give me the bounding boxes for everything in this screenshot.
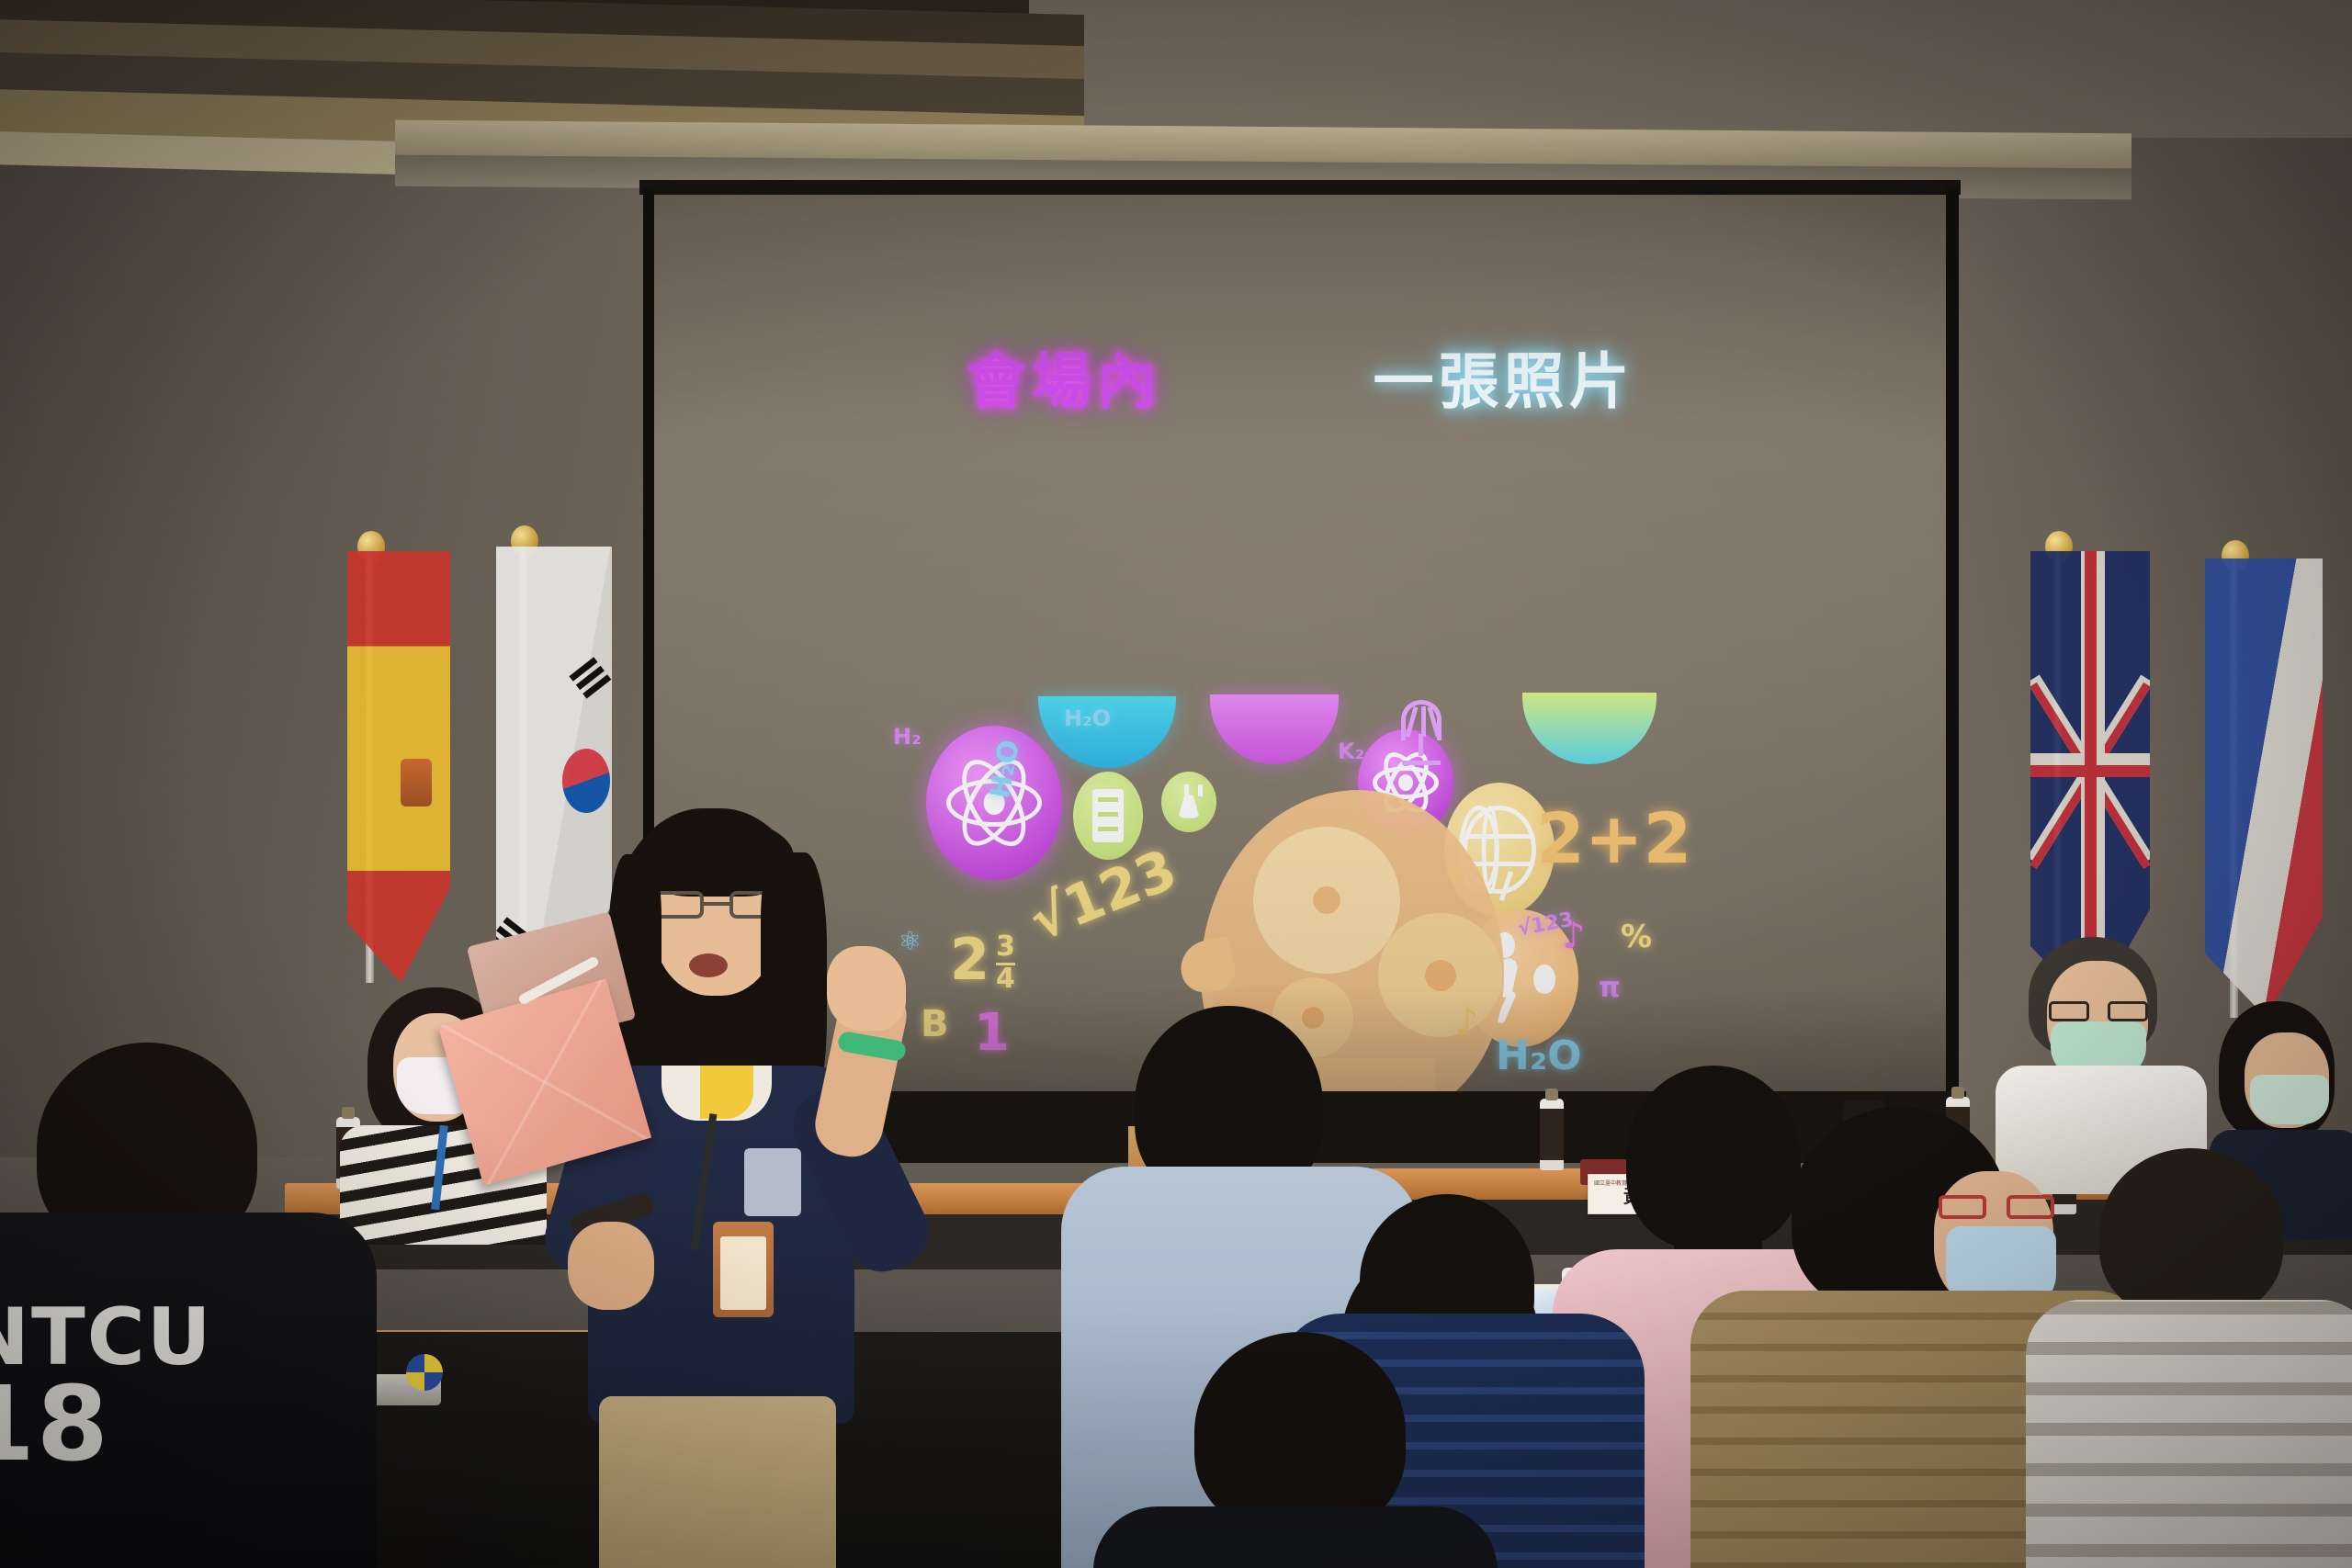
screen-right-edge <box>1946 188 1959 1157</box>
symbol-two: 2 <box>950 926 989 993</box>
presenter-speaker <box>551 790 937 1568</box>
book-bubble <box>1073 772 1143 860</box>
spain-flag <box>347 551 450 983</box>
shirt-print: NTCU 18 <box>0 1300 266 1474</box>
audience-front-dark <box>1093 1405 1479 1568</box>
eyeglasses-icon <box>2049 1001 2148 1021</box>
slide-heading-photo: 一張照片 <box>1374 333 1634 421</box>
id-badge-card <box>720 1236 766 1310</box>
symbol-h2o: H₂O <box>1496 1032 1582 1079</box>
microscope-icon <box>1389 694 1453 768</box>
water-bottle[interactable] <box>1540 1099 1564 1170</box>
symbol-pi: π <box>1599 972 1621 1004</box>
gear-icon <box>1253 827 1400 974</box>
symbol-chem-tiny: H₂ <box>893 724 922 750</box>
polo-crest-logo <box>744 1148 801 1216</box>
dome-magenta-icon <box>1210 694 1339 764</box>
slide-heading-venue: 會場內 <box>967 333 1162 421</box>
audience-ntcu-shirt: NTCU 18 <box>0 1043 358 1568</box>
gear-icon <box>1378 913 1502 1037</box>
symbol-2plus2: 2+2 <box>1536 797 1691 879</box>
conference-photo-scene: 會場內 一張照片 <box>0 0 2352 1568</box>
flask-icon <box>1174 784 1203 819</box>
symbol-music-note: ♪ <box>1455 1001 1479 1043</box>
screen-top-bar <box>639 180 1961 195</box>
slide-heading-row: 會場內 一張照片 <box>654 333 1946 421</box>
symbol-k-tiny: K₂ <box>1338 739 1364 764</box>
symbol-percent: % <box>1621 919 1652 955</box>
symbol-fraction: 34 <box>996 933 1015 993</box>
volleyball-keychain <box>406 1354 443 1391</box>
symbol-h2o-tiny: H₂O <box>1064 705 1111 731</box>
flask-bubble <box>1161 772 1216 832</box>
book-icon <box>1092 789 1123 842</box>
symbol-one: 1 <box>974 1003 1010 1063</box>
audience-striped-right <box>2035 1148 2352 1568</box>
dome-mixed-icon <box>1522 693 1657 764</box>
shirt-print-line2: 18 <box>0 1376 266 1475</box>
